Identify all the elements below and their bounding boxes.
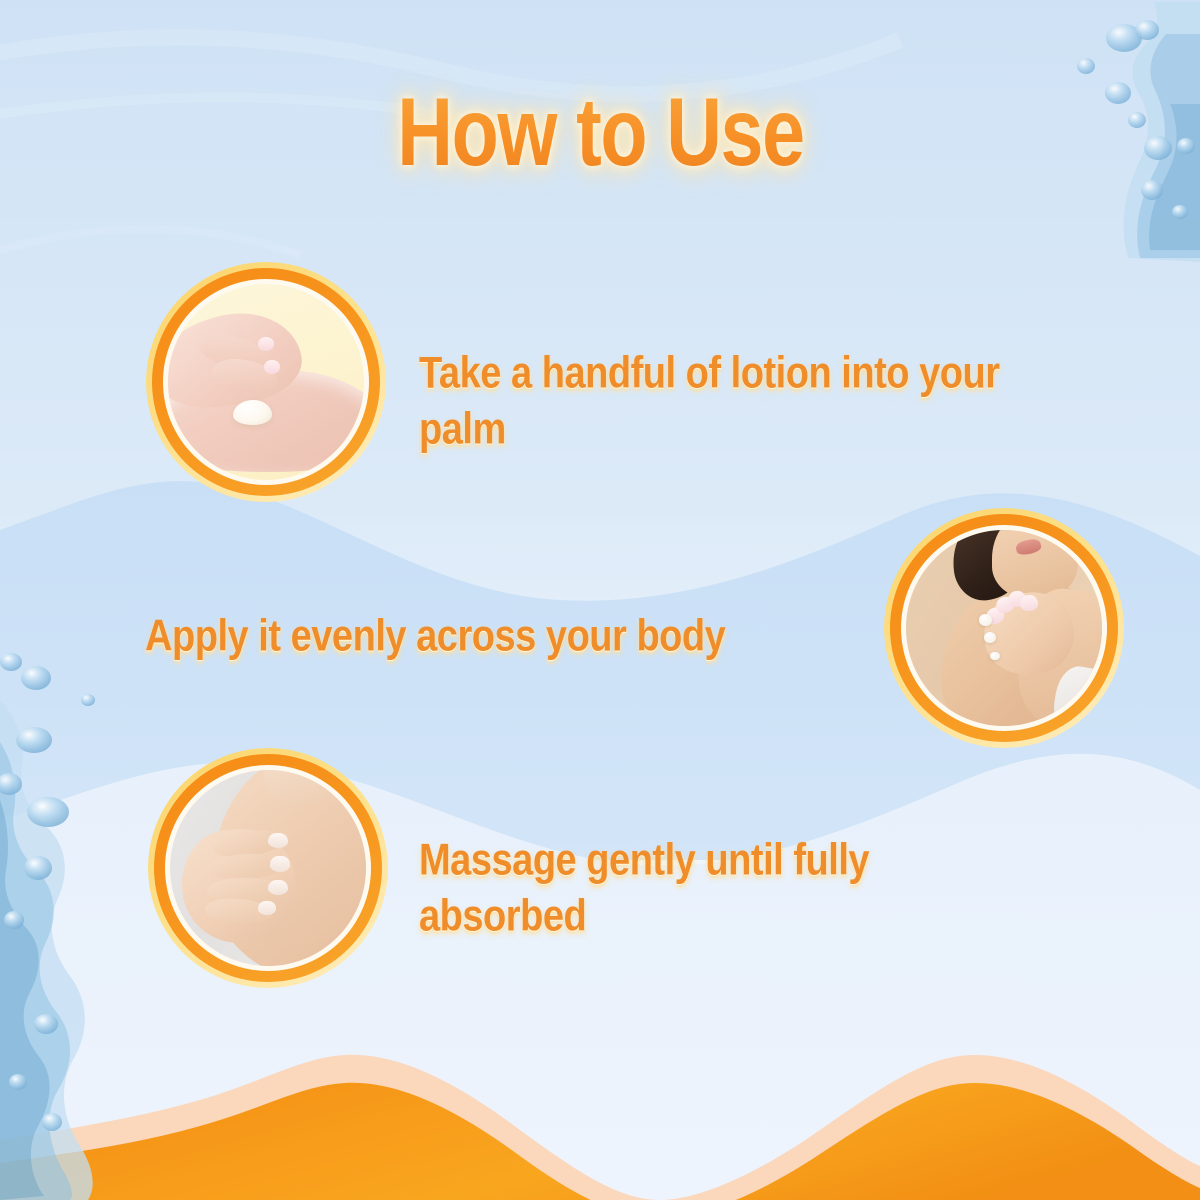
page-title: How to Use [397, 84, 803, 180]
page-title-wrap: How to Use [0, 84, 1200, 167]
step-3-image-circle [148, 748, 388, 988]
woman-applying-cream-to-shoulder-photo [906, 530, 1102, 726]
hand-massaging-shoulder-photo [170, 770, 366, 966]
hands-holding-lotion-photo [168, 284, 364, 480]
step-2-text: Apply it evenly across your body [145, 608, 867, 664]
how-to-use-infographic: How to Use Take a handful of lotion into… [0, 0, 1200, 1200]
step-2-image-circle [884, 508, 1124, 748]
step-1-image-circle [146, 262, 386, 502]
step-3-text: Massage gently until fully absorbed [419, 832, 989, 944]
step-1-text: Take a handful of lotion into your palm [419, 345, 1008, 457]
